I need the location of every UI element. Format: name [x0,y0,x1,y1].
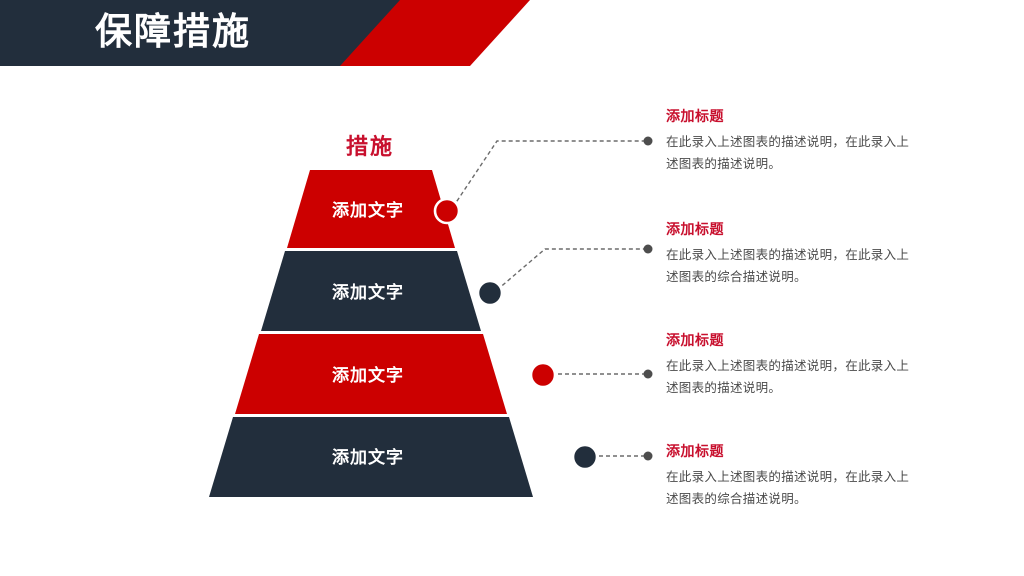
callout-item-4[interactable]: 添加标题 在此录入上述图表的描述说明，在此录入上述图表的综合描述说明。 [666,441,911,510]
connector-line-2 [497,249,648,290]
pyramid-tier-3-label: 添加文字 [268,365,468,387]
callout-item-3[interactable]: 添加标题 在此录入上述图表的描述说明，在此录入上述图表的描述说明。 [666,330,911,399]
connector-dot-end-1 [644,137,653,146]
callout-body-1: 在此录入上述图表的描述说明，在此录入上述图表的描述说明。 [666,131,911,175]
callout-body-3: 在此录入上述图表的描述说明，在此录入上述图表的描述说明。 [666,355,911,399]
callout-title-4: 添加标题 [666,441,911,461]
pyramid-tier-1-label: 添加文字 [268,200,468,222]
connector-dot-end-3 [644,370,653,379]
tier-marker-ring-2[interactable] [478,281,502,305]
connector-line-1 [453,141,648,207]
callout-item-2[interactable]: 添加标题 在此录入上述图表的描述说明，在此录入上述图表的综合描述说明。 [666,219,911,288]
connector-dot-end-4 [644,452,653,461]
pyramid-apex-label: 措施 [305,131,435,163]
pyramid-diagram: 措施 添加文字 添加文字 添加文字 添加文字 [0,0,700,576]
pyramid-tier-2-label: 添加文字 [268,282,468,304]
callout-title-2: 添加标题 [666,219,911,239]
connector-dot-end-2 [644,245,653,254]
pyramid-tier-4-label: 添加文字 [268,447,468,469]
tier-marker-ring-3[interactable] [531,363,555,387]
callout-body-2: 在此录入上述图表的描述说明，在此录入上述图表的综合描述说明。 [666,244,911,288]
callout-body-4: 在此录入上述图表的描述说明，在此录入上述图表的综合描述说明。 [666,466,911,510]
callout-title-1: 添加标题 [666,106,911,126]
callout-title-3: 添加标题 [666,330,911,350]
tier-marker-ring-4[interactable] [573,445,597,469]
callout-list: 添加标题 在此录入上述图表的描述说明，在此录入上述图表的描述说明。 添加标题 在… [666,0,1006,576]
callout-item-1[interactable]: 添加标题 在此录入上述图表的描述说明，在此录入上述图表的描述说明。 [666,106,911,175]
